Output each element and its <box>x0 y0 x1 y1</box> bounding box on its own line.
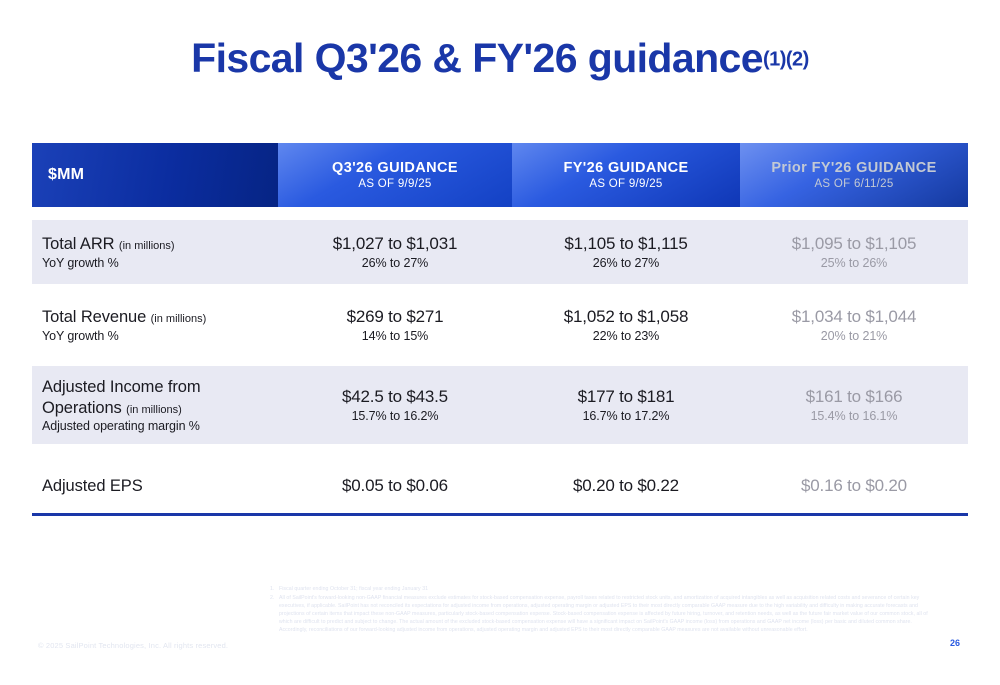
cell-fy-total-revenue: $1,052 to $1,058 22% to 23% <box>512 307 740 343</box>
cell-value-sub: 22% to 23% <box>593 329 659 343</box>
cell-q3-total-arr: $1,027 to $1,031 26% to 27% <box>278 234 512 270</box>
cell-value-main: $0.16 to $0.20 <box>801 476 907 496</box>
table-row: Adjusted EPS $0.05 to $0.06 $0.20 to $0.… <box>32 457 968 515</box>
header-q3-title: Q3'26 GUIDANCE <box>332 160 458 177</box>
cell-value-main: $269 to $271 <box>347 307 444 327</box>
cell-value-main: $1,105 to $1,115 <box>564 234 687 254</box>
page-title-text: Fiscal Q3'26 & FY'26 guidance <box>191 38 763 79</box>
header-fy-title: FY'26 GUIDANCE <box>563 160 688 177</box>
cell-value-sub: 20% to 21% <box>821 329 887 343</box>
footnote-number: 1. <box>270 585 279 593</box>
row-spacer <box>32 207 968 220</box>
cell-value-main: $1,095 to $1,105 <box>792 234 916 254</box>
cell-value-sub: 15.7% to 16.2% <box>352 409 439 423</box>
header-fy-asof: AS OF 9/9/25 <box>589 178 662 190</box>
cell-value-main: $0.05 to $0.06 <box>342 476 448 496</box>
row-label-sub: YoY growth % <box>42 329 119 343</box>
cell-q3-total-revenue: $269 to $271 14% to 15% <box>278 307 512 343</box>
row-label-total-revenue: Total Revenue (in millions) YoY growth % <box>32 307 278 342</box>
cell-value-sub: 26% to 27% <box>593 256 659 270</box>
table-bottom-rule <box>32 513 968 516</box>
row-label-total-arr: Total ARR (in millions) YoY growth % <box>32 234 278 269</box>
row-label-main: Total Revenue <box>42 308 146 326</box>
cell-value-main: $0.20 to $0.22 <box>573 476 679 496</box>
row-label-note: (in millions) <box>119 240 175 252</box>
cell-fy-adjusted-income: $177 to $181 16.7% to 17.2% <box>512 387 740 423</box>
footnote-text: All of SailPoint's forward-looking non-G… <box>279 594 930 634</box>
cell-fy-adjusted-eps: $0.20 to $0.22 <box>512 476 740 496</box>
cell-value-main: $1,034 to $1,044 <box>792 307 916 327</box>
row-label-adjusted-eps: Adjusted EPS <box>32 476 278 496</box>
header-cell-q3-guidance: Q3'26 GUIDANCE AS OF 9/9/25 <box>278 143 512 207</box>
row-label-note: (in millions) <box>151 313 207 325</box>
cell-value-sub: 26% to 27% <box>362 256 428 270</box>
guidance-table: $MM Q3'26 GUIDANCE AS OF 9/9/25 FY'26 GU… <box>32 143 968 515</box>
header-prior-title: Prior FY'26 GUIDANCE <box>771 160 936 177</box>
cell-value-main: $42.5 to $43.5 <box>342 387 448 407</box>
cell-q3-adjusted-eps: $0.05 to $0.06 <box>278 476 512 496</box>
row-spacer <box>32 284 968 297</box>
row-label-main: Total ARR <box>42 235 114 253</box>
row-label-sub: Adjusted operating margin % <box>42 419 200 433</box>
copyright-notice: © 2025 SailPoint Technologies, Inc. All … <box>38 641 228 650</box>
cell-fy-total-arr: $1,105 to $1,115 26% to 27% <box>512 234 740 270</box>
header-prior-asof: AS OF 6/11/25 <box>814 178 893 190</box>
header-cell-fy-guidance: FY'26 GUIDANCE AS OF 9/9/25 <box>512 143 740 207</box>
table-row: Adjusted Income from Operations (in mill… <box>32 366 968 444</box>
cell-prior-total-arr: $1,095 to $1,105 25% to 26% <box>740 234 968 270</box>
footnotes: 1. Fiscal quarter ending October 31; fis… <box>270 585 930 635</box>
cell-prior-adjusted-eps: $0.16 to $0.20 <box>740 476 968 496</box>
row-spacer <box>32 353 968 366</box>
cell-value-sub: 14% to 15% <box>362 329 428 343</box>
cell-prior-adjusted-income: $161 to $166 15.4% to 16.1% <box>740 387 968 423</box>
row-label-sub: YoY growth % <box>42 256 119 270</box>
footnote-number: 2. <box>270 594 279 634</box>
page-title: Fiscal Q3'26 & FY'26 guidance(1)(2) <box>0 38 1000 79</box>
table-header-row: $MM Q3'26 GUIDANCE AS OF 9/9/25 FY'26 GU… <box>32 143 968 207</box>
cell-value-main: $1,027 to $1,031 <box>333 234 457 254</box>
header-q3-asof: AS OF 9/9/25 <box>358 178 431 190</box>
cell-value-main: $177 to $181 <box>578 387 675 407</box>
cell-prior-total-revenue: $1,034 to $1,044 20% to 21% <box>740 307 968 343</box>
cell-value-main: $1,052 to $1,058 <box>564 307 688 327</box>
table-row: Total ARR (in millions) YoY growth % $1,… <box>32 220 968 284</box>
footnote-item: 2. All of SailPoint's forward-looking no… <box>270 594 930 634</box>
cell-value-sub: 15.4% to 16.1% <box>811 409 898 423</box>
footnote-text: Fiscal quarter ending October 31; fiscal… <box>279 585 930 593</box>
cell-value-sub: 25% to 26% <box>821 256 887 270</box>
row-label-note: (in millions) <box>126 404 182 416</box>
header-cell-units: $MM <box>32 143 278 207</box>
page-number: 26 <box>950 638 960 648</box>
header-cell-prior-fy-guidance: Prior FY'26 GUIDANCE AS OF 6/11/25 <box>740 143 968 207</box>
header-units-label: $MM <box>48 166 84 184</box>
cell-q3-adjusted-income: $42.5 to $43.5 15.7% to 16.2% <box>278 387 512 423</box>
cell-value-main: $161 to $166 <box>806 387 903 407</box>
cell-value-sub: 16.7% to 17.2% <box>583 409 670 423</box>
row-label-adjusted-income-from-operations: Adjusted Income from Operations (in mill… <box>32 377 278 433</box>
row-label-main: Adjusted EPS <box>42 477 143 495</box>
footnote-item: 1. Fiscal quarter ending October 31; fis… <box>270 585 930 593</box>
row-spacer <box>32 444 968 457</box>
page-title-superscript: (1)(2) <box>763 49 809 71</box>
table-row: Total Revenue (in millions) YoY growth %… <box>32 297 968 353</box>
